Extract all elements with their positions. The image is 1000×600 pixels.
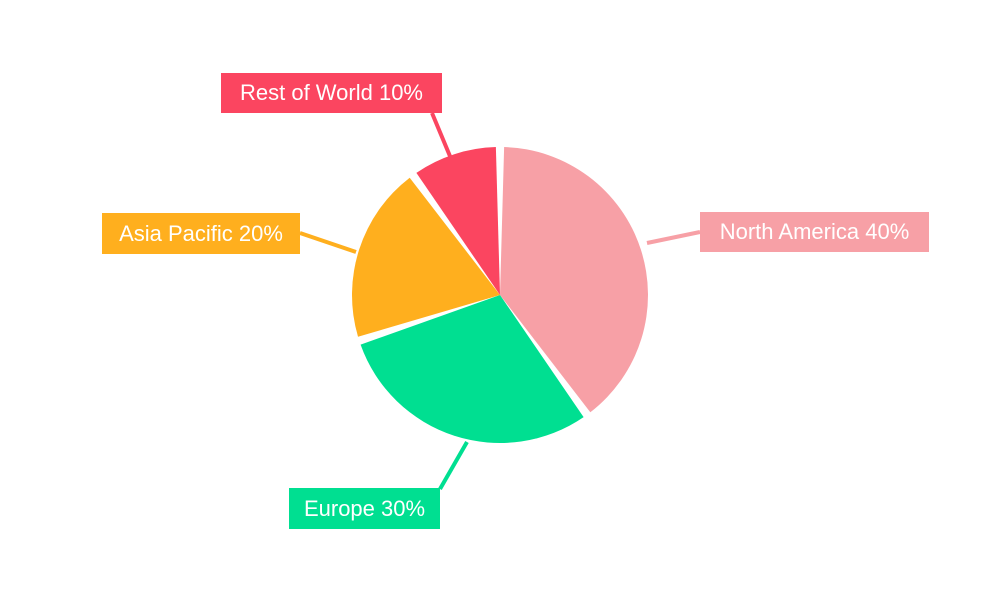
slice-label-text: Asia Pacific 20%: [119, 223, 283, 245]
slice-label-text: Rest of World 10%: [240, 82, 423, 104]
pie-slices: [352, 147, 648, 443]
slice-label-europe: Europe 30%: [289, 488, 440, 529]
slice-label-asia-pacific: Asia Pacific 20%: [102, 213, 300, 254]
slice-label-text: Europe 30%: [304, 498, 425, 520]
pie-chart-canvas: [0, 0, 1000, 600]
slice-label-text: North America 40%: [720, 221, 910, 243]
slice-label-rest-of-world: Rest of World 10%: [221, 73, 442, 113]
leader-line-north-america: [647, 232, 700, 243]
leader-line-rest-of-world: [432, 113, 452, 161]
leader-line-asia-pacific: [300, 233, 356, 252]
slice-label-north-america: North America 40%: [700, 212, 929, 252]
pie-chart: Rest of World 10% Asia Pacific 20% North…: [0, 0, 1000, 600]
leader-line-europe: [440, 442, 467, 489]
